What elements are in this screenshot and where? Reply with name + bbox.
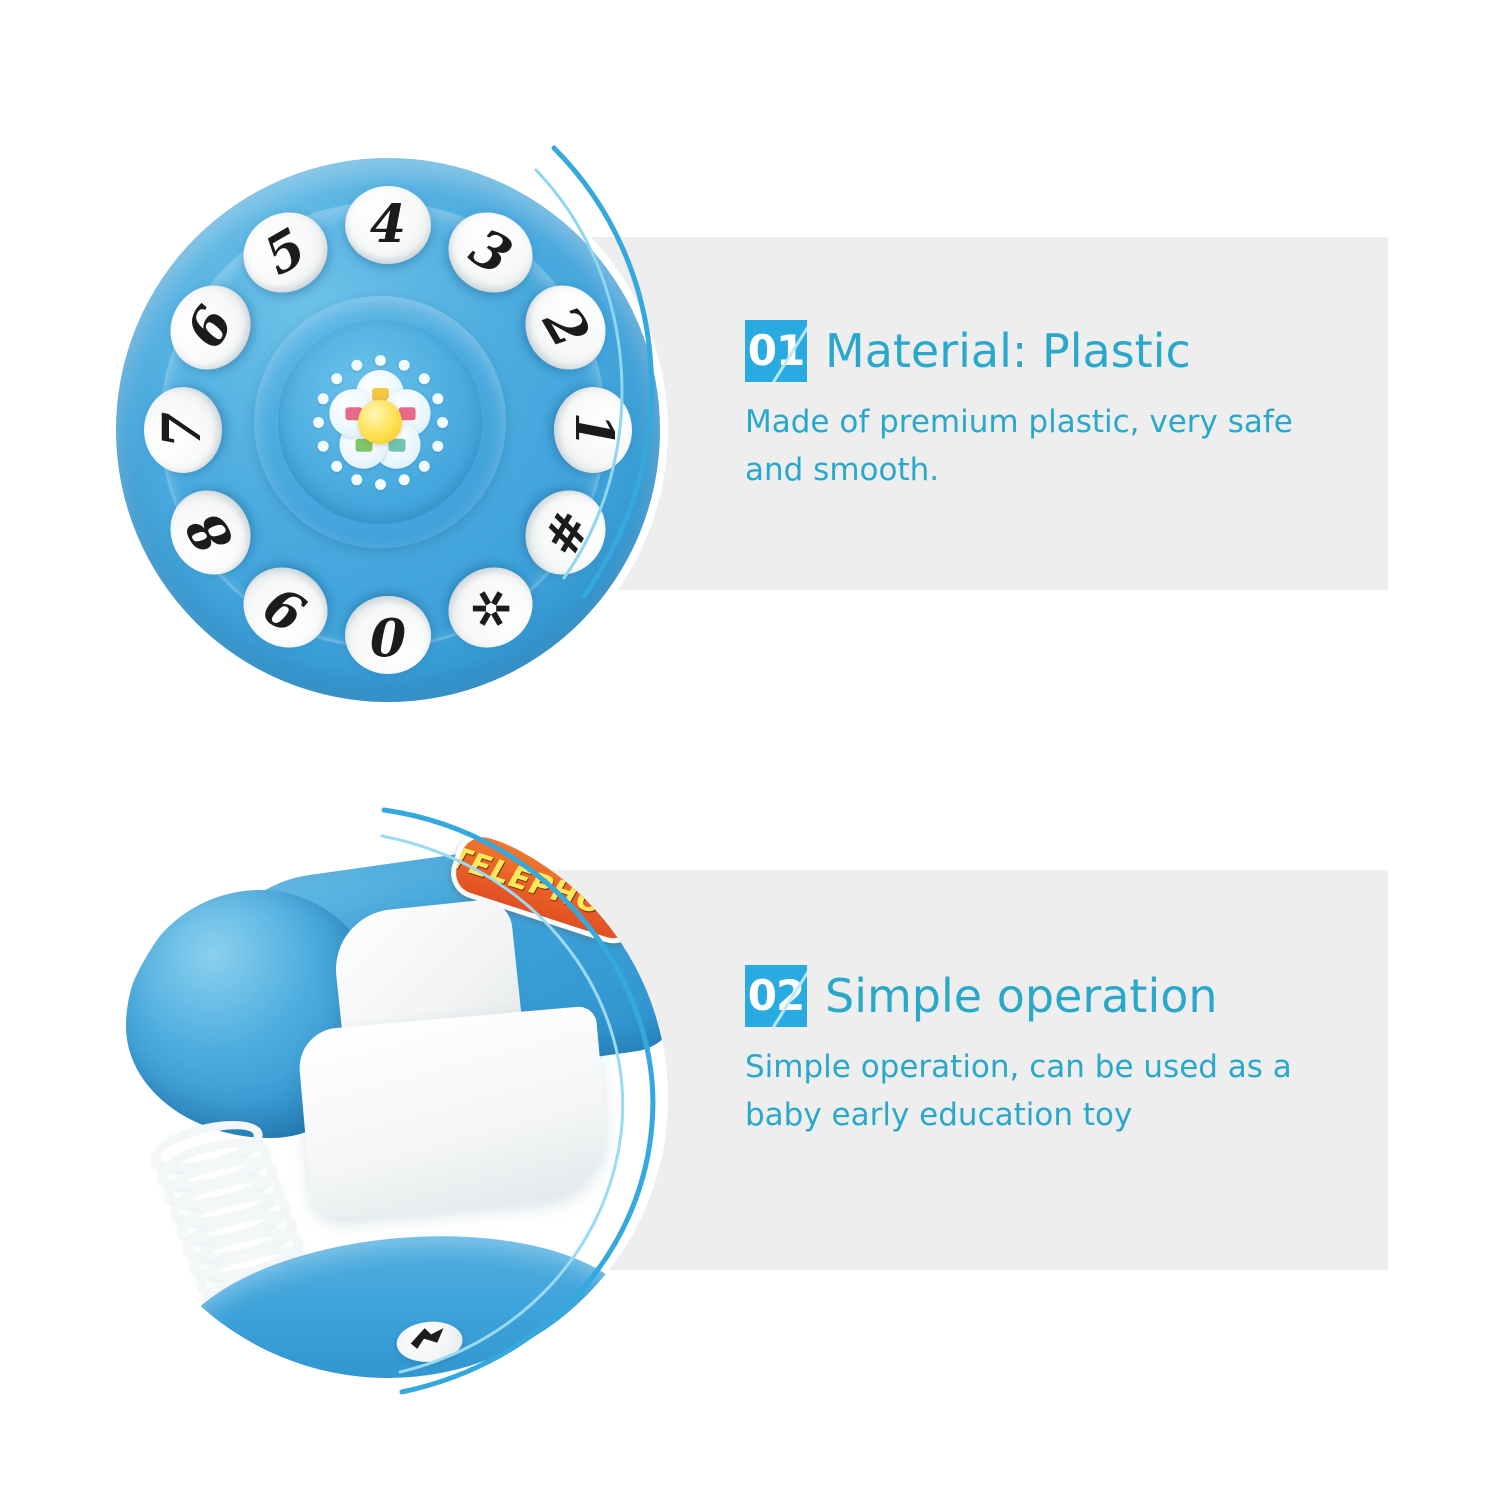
flower-dot [398,474,409,485]
flower-dot [331,373,342,384]
flower-dot [432,440,443,451]
photo-circle-mask: TELEPHONE [108,818,668,1378]
step-number-badge: 02 [745,965,807,1027]
dial-key-label: 2 [534,299,597,356]
flower-dot [437,417,448,428]
flower-dot [432,393,443,404]
dial-key-label: 7 [157,412,209,448]
dial-key-label: ✲ [460,575,521,639]
flower-dot [418,460,429,471]
dial-key-label: 3 [462,221,519,284]
dial-key-star: ✲ [434,552,547,663]
feature-headline: Material: Plastic [825,327,1191,375]
dial-key-hash: # [510,476,621,589]
dial-key-3: 3 [434,197,547,308]
dial-key-label: 0 [370,609,406,661]
dial-key-label: 6 [179,299,242,356]
dial-key-1: 1 [554,387,632,473]
dial-key-label: 8 [179,504,242,561]
base-key-glyph [409,1327,445,1350]
telephone-base-key [395,1319,464,1365]
product-photo-dial: 4321#✲098765 [108,150,668,710]
flower-dot [398,359,409,370]
dial-key-label: 4 [370,199,406,251]
product-photo-handset: TELEPHONE [108,818,668,1378]
flower-dot [317,440,328,451]
dial-key-8: 8 [155,476,266,589]
flower-dot [331,460,342,471]
dial-key-label: 1 [567,412,619,448]
infographic-page: 4321#✲098765 01 Material: Plastic [0,0,1500,1500]
feature-body-text: Simple operation, can be used as a baby … [745,1043,1345,1139]
step-number: 01 [748,330,804,372]
flower-center [358,400,402,444]
feature-heading-row: 02 Simple operation [745,965,1365,1027]
flower-dot [351,474,362,485]
feature-block-02: TELEPHONE 02 [0,770,1500,1390]
dial-key-0: 0 [345,596,431,674]
dial-key-label: 9 [257,576,314,639]
dial-key-label: # [533,502,597,563]
feature-headline: Simple operation [825,972,1218,1020]
dial-key-6: 6 [155,271,266,384]
dial-key-5: 5 [229,197,342,308]
feature-text-02: 02 Simple operation Simple operation, ca… [745,965,1365,1139]
feature-heading-row: 01 Material: Plastic [745,320,1365,382]
flower-dot [313,417,324,428]
dial-key-7: 7 [144,387,222,473]
dial-key-label: 5 [257,221,314,284]
feature-body-text: Made of premium plastic, very safe and s… [745,398,1345,494]
step-number: 02 [748,975,804,1017]
flower-dot [375,355,386,366]
flower-dot [351,359,362,370]
step-number-badge: 01 [745,320,807,382]
dial-key-2: 2 [510,271,621,384]
feature-block-01: 4321#✲098765 01 Material: Plastic [0,130,1500,750]
dial-key-9: 9 [229,552,342,663]
flower-graphic [306,348,454,496]
feature-text-01: 01 Material: Plastic Made of premium pla… [745,320,1365,494]
telephone-handset [296,1005,611,1220]
flower-dot [375,479,386,490]
photo-circle-mask: 4321#✲098765 [108,150,668,710]
dial-key-4: 4 [345,186,431,264]
flower-dot [317,393,328,404]
flower-dot [418,373,429,384]
